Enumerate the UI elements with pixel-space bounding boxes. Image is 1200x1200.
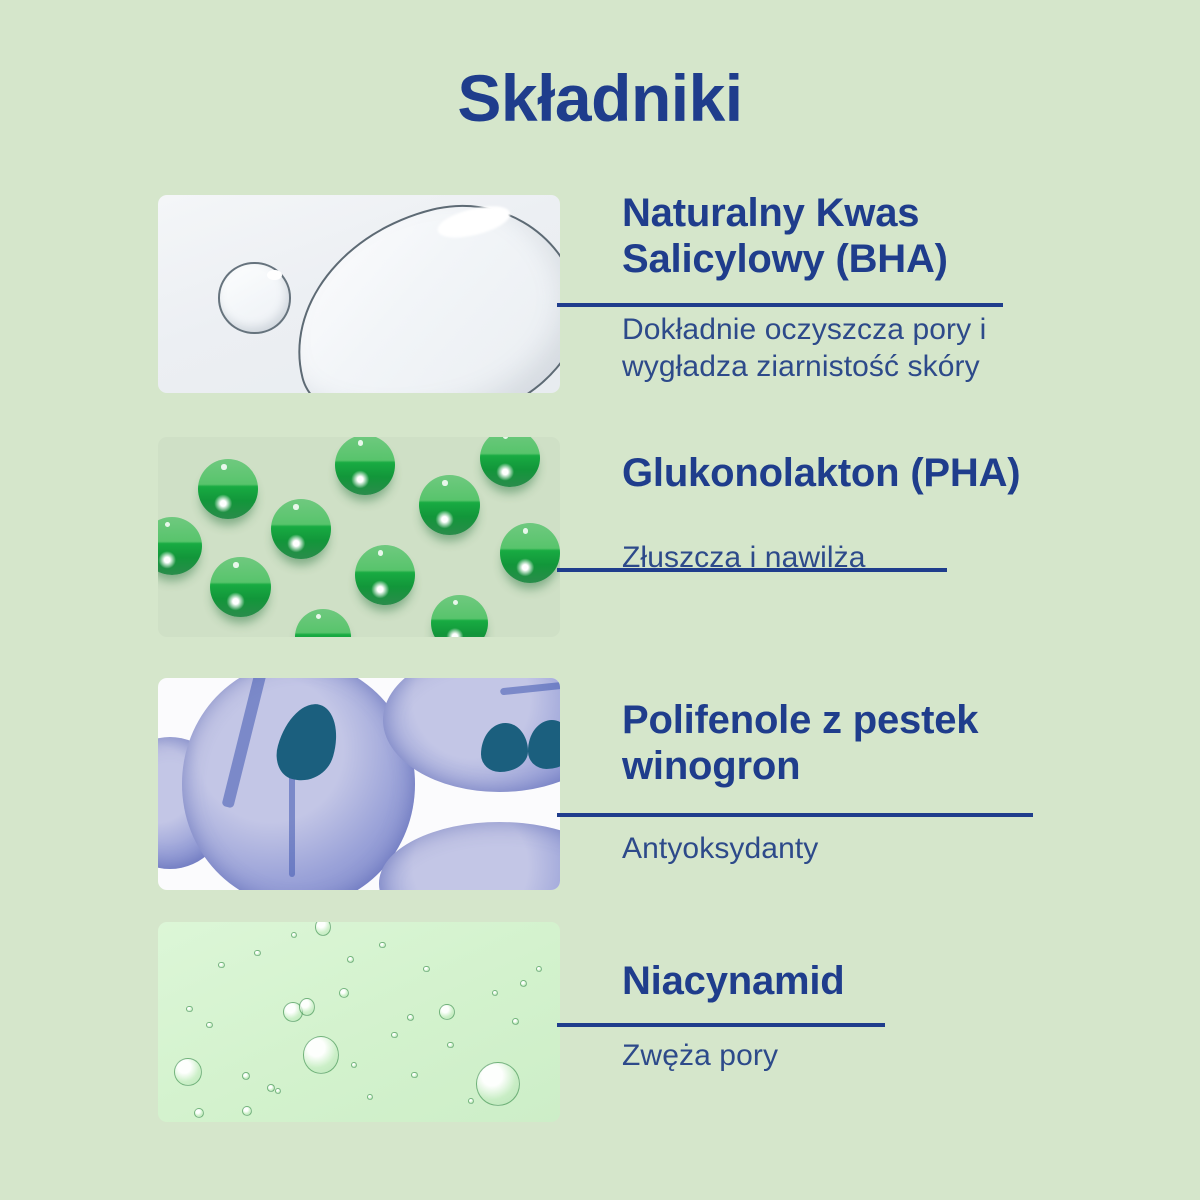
bubble: [423, 966, 429, 972]
green-bead-spheres-photo: [158, 437, 560, 637]
grape-main: [182, 678, 415, 890]
ingredient-info-4: Niacynamid Zwęża pory: [622, 958, 1072, 1075]
bead: [500, 523, 560, 583]
bubble: [291, 932, 297, 938]
bubble: [254, 950, 260, 956]
bubble: [206, 1022, 212, 1028]
gel-blob-shape: [269, 195, 560, 393]
grape-seed: [528, 720, 560, 769]
bead: [210, 557, 270, 617]
bead: [480, 437, 540, 487]
bubble: [492, 990, 498, 996]
bead: [355, 545, 415, 605]
bubble: [439, 1004, 455, 1020]
ingredient-image-1: [158, 195, 560, 393]
bubble: [447, 1042, 453, 1048]
ingredient-info-2: Glukonolakton (PHA) Złuszcza i nawilża: [622, 450, 1072, 577]
ingredient-name-1: Naturalny Kwas Salicylowy (BHA): [622, 190, 1072, 283]
ingredient-name-4: Niacynamid: [622, 958, 1072, 1004]
ingredient-info-3: Polifenole z pestek winogron Antyoksydan…: [622, 697, 1082, 867]
bead: [158, 517, 202, 575]
bubble: [379, 942, 385, 948]
ingredient-image-3: [158, 678, 560, 890]
bubble: [242, 1106, 252, 1116]
grape-seed: [481, 723, 528, 772]
ingredient-image-4: [158, 922, 560, 1122]
bubble: [476, 1062, 520, 1106]
ingredients-infographic: Składniki Naturalny Kwas Salicylowy (BHA…: [0, 0, 1200, 1200]
bubble: [468, 1098, 474, 1104]
ingredient-image-2: [158, 437, 560, 637]
bead: [419, 475, 479, 535]
ingredient-description-3: Antyoksydanty: [622, 830, 1082, 868]
page-title: Składniki: [0, 62, 1200, 135]
bubble: [407, 1014, 414, 1021]
bubble: [174, 1058, 202, 1086]
ingredient-description-2: Złuszcza i nawilża: [622, 539, 1072, 577]
bubble: [351, 1062, 357, 1068]
bead: [335, 437, 395, 495]
bubble: [218, 962, 224, 968]
bubble: [315, 922, 331, 936]
ingredient-info-1: Naturalny Kwas Salicylowy (BHA) Dokładni…: [622, 190, 1072, 386]
bubble: [512, 1018, 519, 1025]
bead: [295, 609, 351, 637]
bubble: [299, 998, 315, 1016]
bead: [198, 459, 258, 519]
bubble: [391, 1032, 397, 1038]
bubble: [194, 1108, 204, 1118]
gel-small-droplet: [218, 262, 290, 333]
bead: [431, 595, 487, 637]
grape-seed: [270, 697, 345, 788]
bubble: [411, 1072, 417, 1078]
ingredient-description-4: Zwęża pory: [622, 1037, 1072, 1075]
bubble: [536, 966, 542, 972]
bubble: [186, 1006, 192, 1012]
bubble: [267, 1084, 275, 1092]
clear-gel-droplet-photo: [158, 195, 560, 393]
bubble: [275, 1088, 281, 1094]
bead: [271, 499, 331, 559]
mint-gel-bubbles-photo: [158, 922, 560, 1122]
grape-bottom: [379, 822, 560, 890]
bubble: [520, 980, 527, 987]
ingredient-name-2: Glukonolakton (PHA): [622, 450, 1072, 496]
ingredient-name-3: Polifenole z pestek winogron: [622, 697, 1082, 790]
bubble: [242, 1072, 250, 1080]
grape-vein: [222, 678, 267, 808]
ingredient-description-1: Dokładnie oczyszcza pory i wygładza ziar…: [622, 311, 1072, 386]
bubble: [367, 1094, 373, 1100]
grape-seed-cross-section-photo: [158, 678, 560, 890]
bubble: [339, 988, 349, 998]
bubble: [347, 956, 354, 963]
grape-vein: [500, 678, 560, 695]
bubble: [303, 1036, 339, 1074]
